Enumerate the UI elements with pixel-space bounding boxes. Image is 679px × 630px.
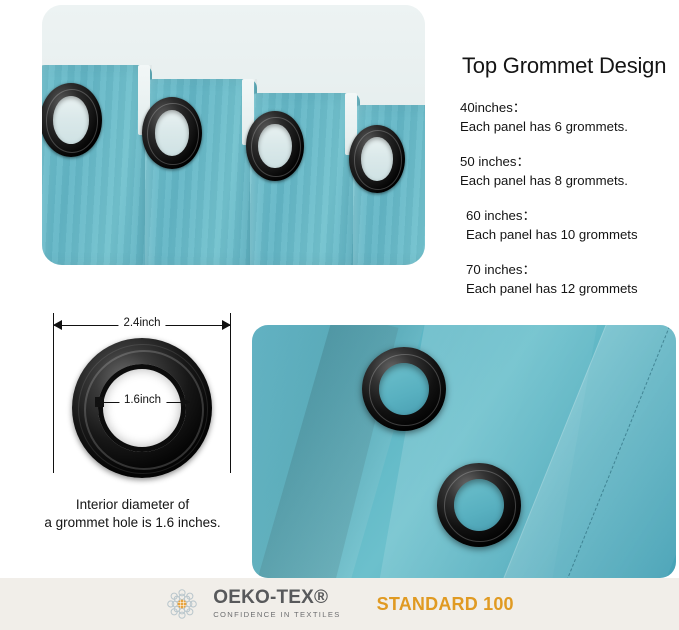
grommet-icon [349,125,405,193]
arrow-left-icon [95,397,104,407]
spec-size-label: 70 inches： [466,260,679,279]
spec-item-40: 40inches： Each panel has 6 grommets. [460,98,679,136]
grommet-icon [42,83,102,157]
grommet-hole [454,479,504,531]
grommet-icon [437,463,521,547]
spec-text-block: Top Grommet Design 40inches： Each panel … [460,52,679,314]
oeko-tex-flower-icon [165,587,199,621]
grommet-hole [379,363,429,415]
grommet-dimension-diagram: 2.4inch 1.6inch Interior diameter of a g… [20,300,245,545]
diagram-caption: Interior diameter of a grommet hole is 1… [20,496,245,532]
inner-dimension-label: 1.6inch [119,393,166,407]
arrow-right-icon [181,397,190,407]
spec-size-label: 50 inches： [460,152,679,171]
fabric-closeup-photo [252,325,676,578]
grommet-icon [362,347,446,431]
oeko-tex-tagline: CONFIDENCE IN TEXTILES [213,609,340,620]
grommet-icon [246,111,304,181]
spec-count-label: Each panel has 10 grommets [466,225,679,244]
spec-count-label: Each panel has 6 grommets. [460,117,679,136]
arrow-left-icon [53,320,62,330]
oeko-tex-brand: OEKO-TEX® [213,588,340,608]
spec-item-50: 50 inches： Each panel has 8 grommets. [460,152,679,190]
inner-dimension-line: 1.6inch [95,395,190,409]
spec-count-label: Each panel has 8 grommets. [460,171,679,190]
outer-dimension-line: 2.4inch [53,318,231,332]
spec-count-label: Each panel has 12 grommets [466,279,679,298]
outer-dimension-label: 2.4inch [118,316,165,330]
spec-item-60: 60 inches： Each panel has 10 grommets [460,206,679,244]
arrow-right-icon [222,320,231,330]
caption-line-1: Interior diameter of [20,496,245,514]
caption-line-2: a grommet hole is 1.6 inches. [20,514,245,532]
extension-line-left [53,313,54,473]
spec-size-label: 40inches： [460,98,679,117]
extension-line-right [230,313,231,473]
grommet-icon [142,97,202,169]
spec-size-label: 60 inches： [466,206,679,225]
standard-100-label: STANDARD 100 [377,594,514,615]
spec-item-70: 70 inches： Each panel has 12 grommets [460,260,679,298]
page-title: Top Grommet Design [462,52,679,80]
oeko-tex-wordmark: OEKO-TEX® CONFIDENCE IN TEXTILES [213,588,340,620]
certification-footer: OEKO-TEX® CONFIDENCE IN TEXTILES STANDAR… [0,578,679,630]
curtain-top-photo [42,5,425,265]
